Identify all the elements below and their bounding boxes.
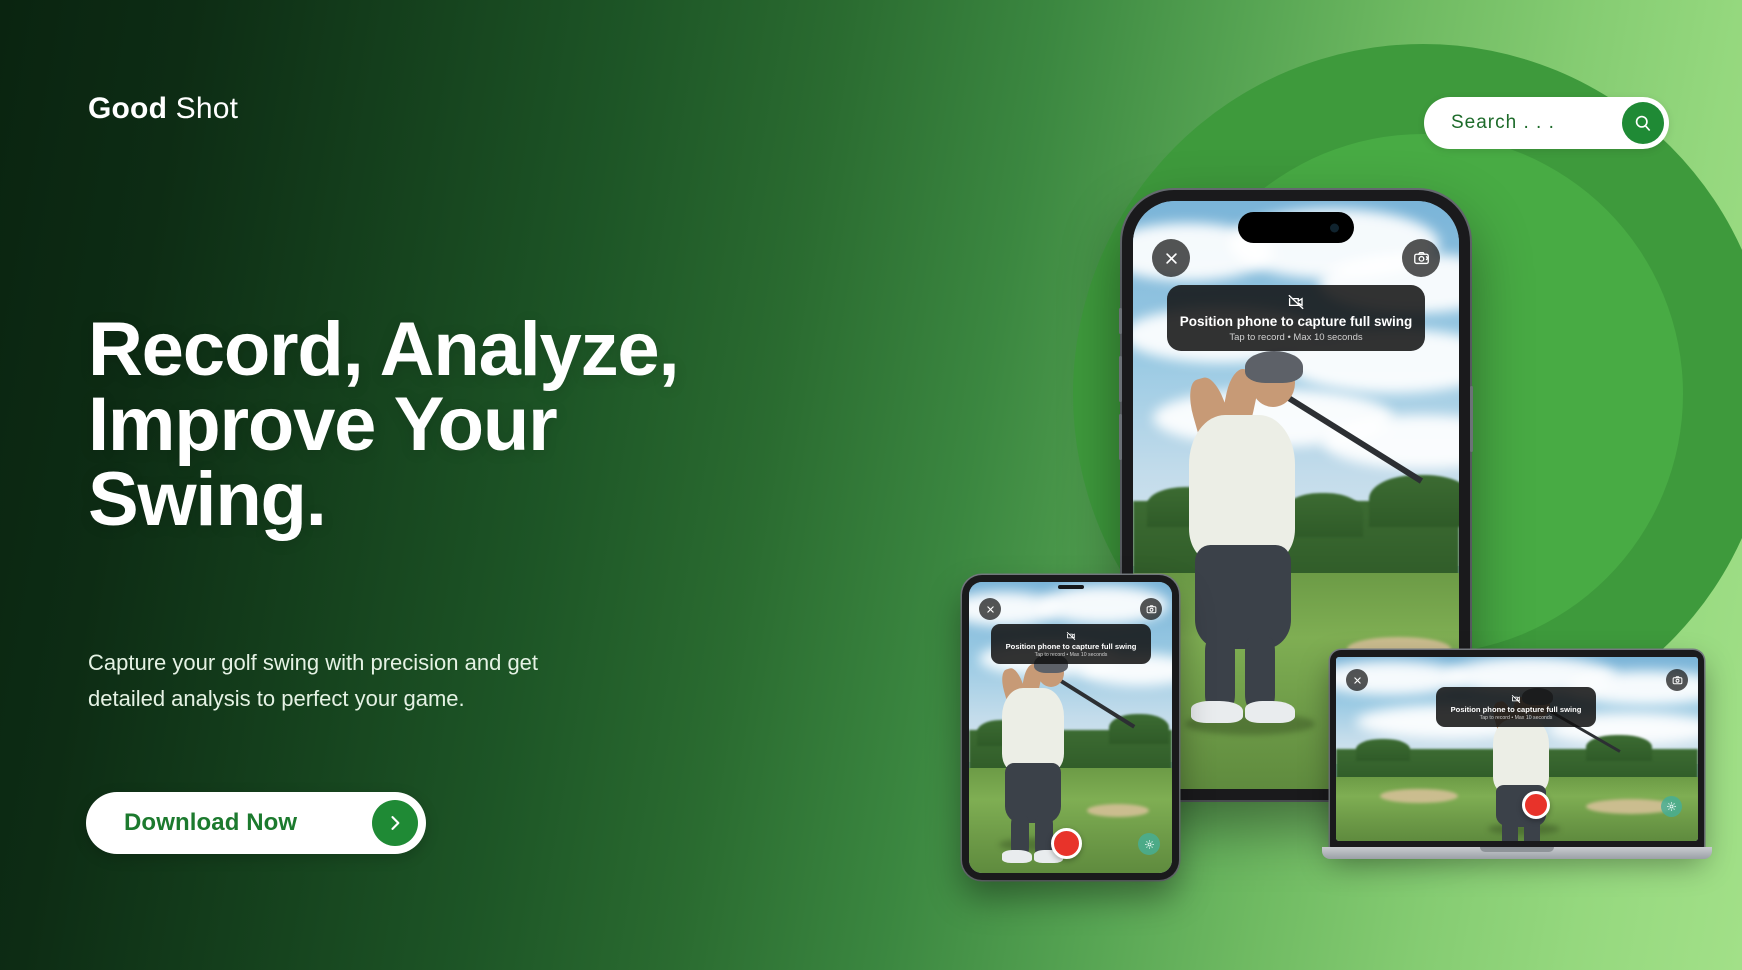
search-button[interactable]	[1622, 102, 1664, 144]
gear-icon	[1144, 839, 1155, 850]
tablet-screen: Position phone to capture full swing Tap…	[969, 582, 1172, 873]
tip-card: Position phone to capture full swing Tap…	[991, 624, 1151, 664]
tip-card: Position phone to capture full swing Tap…	[1436, 687, 1596, 727]
tip-subtitle: Tap to record • Max 10 seconds	[1035, 652, 1108, 658]
headline-line-3: Swing.	[88, 457, 326, 542]
subtitle-line-1: Capture your golf swing with precision a…	[88, 650, 538, 675]
camera-flip-icon	[1146, 604, 1157, 615]
close-icon	[986, 605, 995, 614]
device-tablet: Position phone to capture full swing Tap…	[962, 575, 1179, 880]
tree	[1356, 739, 1410, 761]
phone-volume-down[interactable]	[1119, 414, 1122, 460]
download-arrow-circle	[372, 800, 418, 846]
tree	[1283, 493, 1363, 537]
search-input[interactable]: Search . . .	[1451, 112, 1622, 134]
laptop-lid: Position phone to capture full swing Tap…	[1330, 650, 1704, 850]
close-button[interactable]	[1346, 669, 1368, 691]
bunker	[1087, 804, 1149, 817]
camera-flip-icon	[1413, 250, 1430, 267]
headline-line-2: Improve Your	[88, 382, 556, 467]
bunker	[1380, 789, 1458, 803]
laptop-trackpad-notch	[1480, 847, 1554, 852]
page-subtitle: Capture your golf swing with precision a…	[88, 645, 728, 716]
tip-subtitle: Tap to record • Max 10 seconds	[1480, 715, 1553, 721]
flip-camera-button[interactable]	[1666, 669, 1688, 691]
tip-card: Position phone to capture full swing Tap…	[1167, 285, 1425, 351]
flip-camera-button[interactable]	[1140, 598, 1162, 620]
settings-button[interactable]	[1661, 796, 1682, 817]
tip-subtitle: Tap to record • Max 10 seconds	[1229, 332, 1362, 343]
download-now-button[interactable]: Download Now	[86, 792, 426, 854]
record-button[interactable]	[1522, 791, 1550, 819]
record-button[interactable]	[1051, 828, 1082, 859]
dynamic-island	[1238, 212, 1354, 243]
hero-banner: Good Shot Search . . . Record, Analyze, …	[0, 0, 1742, 970]
video-off-icon	[1511, 694, 1521, 704]
front-camera-lens	[1330, 223, 1339, 232]
settings-button[interactable]	[1138, 833, 1160, 855]
laptop-camera-preview: Position phone to capture full swing Tap…	[1336, 657, 1698, 841]
video-off-icon	[1066, 631, 1076, 641]
headline-line-1: Record, Analyze,	[88, 307, 678, 392]
close-button[interactable]	[1152, 239, 1190, 277]
laptop-screen: Position phone to capture full swing Tap…	[1336, 657, 1698, 841]
tree	[1369, 475, 1459, 527]
brand-name-light: Shot	[176, 92, 239, 125]
gear-icon	[1666, 801, 1677, 812]
tablet-camera-preview: Position phone to capture full swing Tap…	[969, 582, 1172, 873]
tip-title: Position phone to capture full swing	[1180, 314, 1413, 329]
close-icon	[1353, 676, 1362, 685]
tip-title: Position phone to capture full swing	[1006, 642, 1137, 651]
phone-power-button[interactable]	[1470, 386, 1473, 452]
brand-name-bold: Good	[88, 92, 167, 125]
phone-volume-up[interactable]	[1119, 356, 1122, 402]
search-bar[interactable]: Search . . .	[1424, 97, 1669, 149]
close-button[interactable]	[979, 598, 1001, 620]
brand-logo[interactable]: Good Shot	[88, 92, 238, 126]
subtitle-line-2: detailed analysis to perfect your game.	[88, 686, 465, 711]
camera-flip-icon	[1672, 675, 1683, 686]
phone-mute-switch[interactable]	[1119, 308, 1122, 334]
flip-camera-button[interactable]	[1402, 239, 1440, 277]
tablet-front-camera	[1058, 585, 1084, 589]
video-off-icon	[1287, 293, 1305, 311]
download-now-label: Download Now	[124, 809, 372, 837]
search-icon	[1633, 113, 1653, 133]
page-title: Record, Analyze, Improve Your Swing.	[88, 312, 848, 538]
chevron-right-icon	[385, 813, 405, 833]
close-icon	[1164, 251, 1179, 266]
device-laptop: Position phone to capture full swing Tap…	[1322, 650, 1712, 870]
tip-title: Position phone to capture full swing	[1451, 705, 1582, 714]
